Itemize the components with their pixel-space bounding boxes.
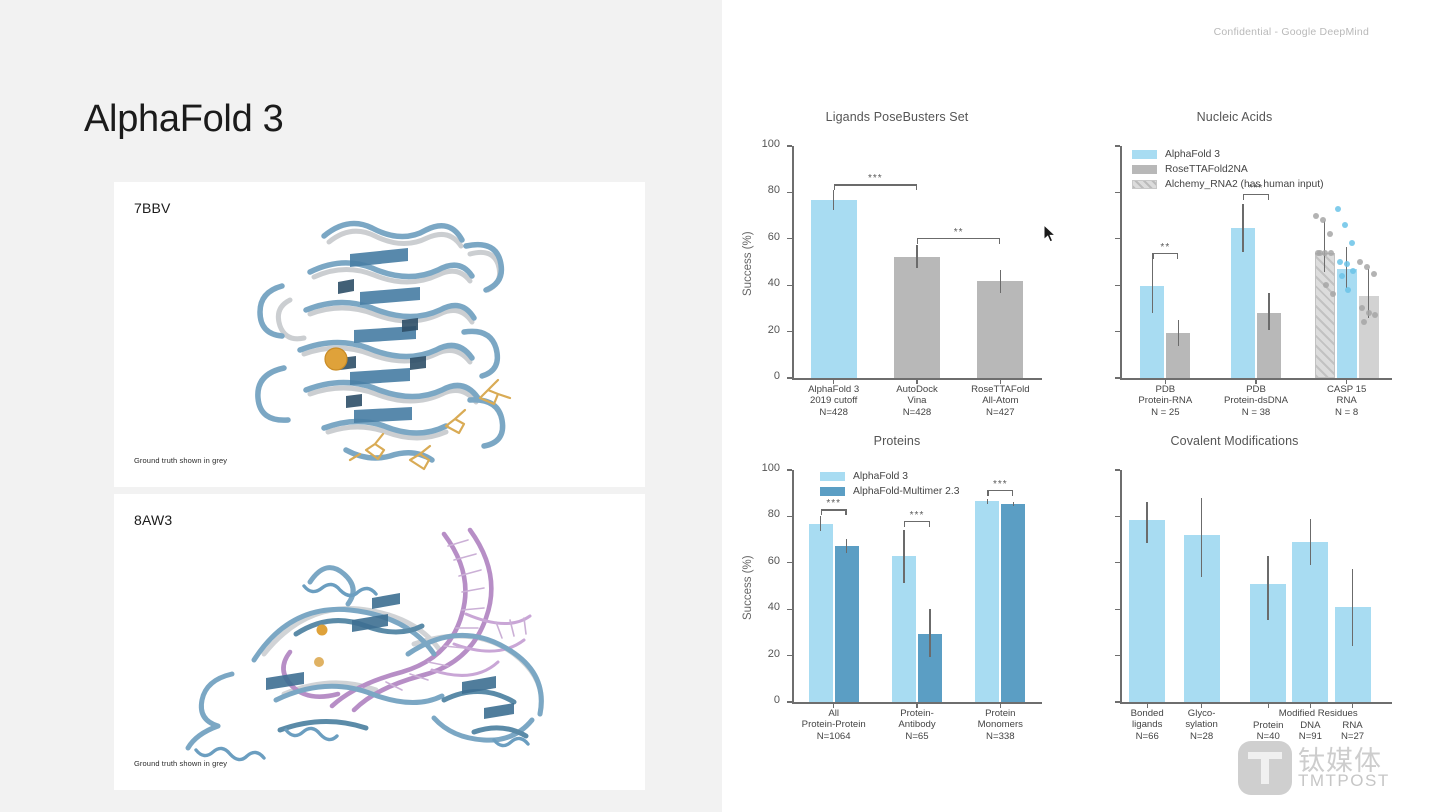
scatter-point xyxy=(1371,271,1377,277)
error-bar xyxy=(1000,270,1002,293)
x-axis-category-label: All Protein-Protein N=1064 xyxy=(786,708,882,742)
bracket-part xyxy=(834,184,835,190)
bracket-part xyxy=(821,509,847,510)
bar xyxy=(975,501,999,702)
bar xyxy=(835,546,859,702)
scatter-point xyxy=(1357,259,1363,265)
bracket-part xyxy=(917,238,918,244)
y-axis-tick xyxy=(787,285,792,286)
y-axis-tick xyxy=(787,609,792,610)
y-axis-tick xyxy=(787,238,792,239)
slide-left-panel: AlphaFold 3 xyxy=(0,0,722,812)
legend-color-swatch xyxy=(820,487,845,496)
y-axis-tick xyxy=(1115,377,1120,378)
chart-covalent-modifications: Covalent Modifications Modified Residues… xyxy=(1062,434,1407,764)
legend-item: RoseTTAFold2NA xyxy=(1132,163,1324,176)
error-bar xyxy=(1346,247,1348,288)
y-axis-tick xyxy=(787,655,792,656)
error-bar xyxy=(1324,221,1326,272)
significance-stars: *** xyxy=(821,498,847,509)
bracket-part xyxy=(1152,253,1178,254)
legend-item: AlphaFold-Multimer 2.3 xyxy=(820,485,959,498)
significance-stars: *** xyxy=(834,173,917,184)
bracket-part xyxy=(845,509,846,515)
bracket-part xyxy=(999,238,1000,244)
y-axis-tick xyxy=(787,377,792,378)
y-axis-tick xyxy=(787,192,792,193)
y-axis-tick-label: 0 xyxy=(746,370,780,382)
mouse-cursor-icon xyxy=(1043,224,1057,243)
error-bar xyxy=(820,516,822,531)
chart-proteins: Proteins 020406080100Success (%)********… xyxy=(732,434,1062,764)
y-axis-tick xyxy=(1115,609,1120,610)
page-title: AlphaFold 3 xyxy=(84,98,284,141)
significance-stars: *** xyxy=(987,479,1013,490)
bracket-part xyxy=(821,509,822,515)
legend-label: AlphaFold 3 xyxy=(1165,149,1220,160)
chart-title: Nucleic Acids xyxy=(1062,110,1407,124)
x-axis-category-label: AutoDock Vina N=428 xyxy=(869,384,965,418)
y-axis-tick xyxy=(1115,285,1120,286)
protein-dna-complex-8aw3-illustration xyxy=(114,494,645,790)
figure-caption: Ground truth shown in grey xyxy=(134,456,227,465)
y-axis-tick-label: 0 xyxy=(746,694,780,706)
y-axis-tick xyxy=(1115,145,1120,146)
legend-item: Alchemy_RNA2 (has human input) xyxy=(1132,178,1324,191)
y-axis-tick xyxy=(787,331,792,332)
y-axis-tick xyxy=(1115,331,1120,332)
y-axis-tick-label: 80 xyxy=(746,508,780,520)
y-axis-tick xyxy=(787,701,792,702)
error-bar xyxy=(846,539,848,553)
y-axis-tick xyxy=(1115,238,1120,239)
y-axis-tick xyxy=(1115,516,1120,517)
legend-item: AlphaFold 3 xyxy=(820,470,959,483)
figure-card-8aw3: 8AW3 Ground truth shown in grey xyxy=(114,494,645,790)
error-bar xyxy=(929,609,931,657)
scatter-point xyxy=(1327,231,1333,237)
y-axis xyxy=(792,146,794,378)
bar xyxy=(809,524,833,702)
y-axis-tick xyxy=(1115,701,1120,702)
x-axis-category-label: RNA N=27 xyxy=(1308,720,1398,743)
scatter-point xyxy=(1361,319,1367,325)
y-axis xyxy=(792,470,794,702)
y-axis-label: Success (%) xyxy=(742,555,754,620)
bracket-part xyxy=(904,521,905,527)
bracket-part xyxy=(834,184,917,185)
legend-item: AlphaFold 3 xyxy=(1132,148,1324,161)
y-axis-tick xyxy=(787,145,792,146)
plot-area: Modified ResiduesBonded ligands N=66Glyc… xyxy=(1120,470,1392,702)
watermark-en-text: TMTPOST xyxy=(1298,771,1390,791)
scatter-point xyxy=(1337,259,1343,265)
error-bar xyxy=(1310,519,1312,565)
significance-stars: ** xyxy=(917,227,1000,238)
chart-nucleic-acids: Nucleic Acids *****PDB Protein-RNA N = 2… xyxy=(1062,110,1407,430)
y-axis-tick-label: 80 xyxy=(746,184,780,196)
bracket-part xyxy=(1012,490,1013,496)
bracket-part xyxy=(929,521,930,527)
bar xyxy=(1292,542,1328,702)
bracket-part xyxy=(917,238,1000,239)
bar xyxy=(977,281,1023,378)
bracket-part xyxy=(1152,253,1153,259)
legend-label: RoseTTAFold2NA xyxy=(1165,164,1248,175)
y-axis-tick-label: 20 xyxy=(746,324,780,336)
scatter-point xyxy=(1335,206,1341,212)
x-axis-category-label: PDB Protein-RNA N = 25 xyxy=(1117,384,1213,418)
legend-color-swatch xyxy=(1132,150,1157,159)
bracket-part xyxy=(987,490,988,496)
x-axis-category-label: RoseTTAFold All-Atom N=427 xyxy=(952,384,1048,418)
plot-area: *****PDB Protein-RNA N = 25PDB Protein-d… xyxy=(1120,146,1392,378)
error-bar xyxy=(903,530,905,583)
x-axis-category-label: CASP 15 RNA N = 8 xyxy=(1299,384,1395,418)
y-axis-tick-label: 100 xyxy=(746,138,780,150)
y-axis-tick xyxy=(1115,655,1120,656)
bracket-part xyxy=(916,184,917,190)
y-axis-tick xyxy=(787,516,792,517)
plot-area: 020406080100Success (%)*********All Prot… xyxy=(792,470,1042,702)
error-bar xyxy=(1267,556,1269,620)
y-axis-tick xyxy=(1115,562,1120,563)
error-bar xyxy=(1013,502,1015,506)
error-bar xyxy=(1242,204,1244,251)
confidential-notice: Confidential - Google DeepMind xyxy=(1214,26,1369,38)
legend-color-swatch xyxy=(820,472,845,481)
legend-label: Alchemy_RNA2 (has human input) xyxy=(1165,179,1324,190)
bracket-part xyxy=(1177,253,1178,259)
scatter-point xyxy=(1366,310,1372,316)
bracket-part xyxy=(987,490,1013,491)
figure-id-label: 7BBV xyxy=(134,200,171,216)
y-axis-tick xyxy=(1115,469,1120,470)
chart-ligands-posebusters: Ligands PoseBusters Set 020406080100Succ… xyxy=(732,110,1062,430)
charts-right-panel: Confidential - Google DeepMind Ligands P… xyxy=(722,0,1439,812)
y-axis-tick-label: 20 xyxy=(746,648,780,660)
scatter-point xyxy=(1344,261,1350,267)
y-axis-tick xyxy=(787,469,792,470)
error-bar xyxy=(1152,258,1154,313)
bracket-part xyxy=(1243,194,1244,200)
plot-area: 020406080100Success (%)*****AlphaFold 3 … xyxy=(792,146,1042,378)
bracket-part xyxy=(904,521,930,522)
x-axis-category-label: Protein Monomers N=338 xyxy=(952,708,1048,742)
chart-legend: AlphaFold 3AlphaFold-Multimer 2.3 xyxy=(820,470,959,500)
error-bar xyxy=(1201,498,1203,577)
x-axis-category-label: PDB Protein-dsDNA N = 38 xyxy=(1208,384,1304,418)
legend-color-swatch xyxy=(1132,180,1157,189)
error-bar xyxy=(833,190,835,210)
scatter-point xyxy=(1349,240,1355,246)
error-bar xyxy=(987,499,989,504)
error-bar xyxy=(1146,502,1148,543)
y-axis xyxy=(1120,146,1122,378)
scatter-point xyxy=(1330,291,1336,297)
significance-stars: ** xyxy=(1152,242,1178,253)
bar xyxy=(1001,504,1025,702)
error-bar xyxy=(1352,569,1354,647)
protein-structure-7bbv-illustration xyxy=(114,182,645,487)
bar xyxy=(1129,520,1165,702)
y-axis-label: Success (%) xyxy=(742,231,754,296)
legend-color-swatch xyxy=(1132,165,1157,174)
scatter-point xyxy=(1364,264,1370,270)
error-bar xyxy=(1178,320,1180,345)
chart-legend: AlphaFold 3RoseTTAFold2NAAlchemy_RNA2 (h… xyxy=(1132,148,1324,193)
error-bar xyxy=(916,245,918,268)
chart-title: Covalent Modifications xyxy=(1062,434,1407,448)
x-axis-category-label: Protein- Antibody N=65 xyxy=(869,708,965,742)
figure-card-7bbv: 7BBV Ground truth shown in grey xyxy=(114,182,645,487)
scatter-point xyxy=(1313,213,1319,219)
y-axis-tick xyxy=(1115,192,1120,193)
significance-stars: *** xyxy=(904,510,930,521)
x-axis-group-header: Modified Residues xyxy=(1218,708,1418,719)
y-axis-tick-label: 100 xyxy=(746,462,780,474)
bracket-part xyxy=(1268,194,1269,200)
error-bar xyxy=(1268,293,1270,330)
bracket-part xyxy=(1243,194,1269,195)
legend-label: AlphaFold 3 xyxy=(853,471,908,482)
y-axis xyxy=(1120,470,1122,702)
scatter-point xyxy=(1342,222,1348,228)
chart-title: Ligands PoseBusters Set xyxy=(732,110,1062,124)
y-axis-tick xyxy=(787,562,792,563)
bar xyxy=(894,257,940,378)
chart-title: Proteins xyxy=(732,434,1062,448)
figure-caption: Ground truth shown in grey xyxy=(134,759,227,768)
bar xyxy=(811,200,857,378)
figure-id-label: 8AW3 xyxy=(134,512,172,528)
x-axis-category-label: AlphaFold 3 2019 cutoff N=428 xyxy=(786,384,882,418)
scatter-point xyxy=(1339,273,1345,279)
legend-label: AlphaFold-Multimer 2.3 xyxy=(853,486,959,497)
scatter-point xyxy=(1317,250,1323,256)
